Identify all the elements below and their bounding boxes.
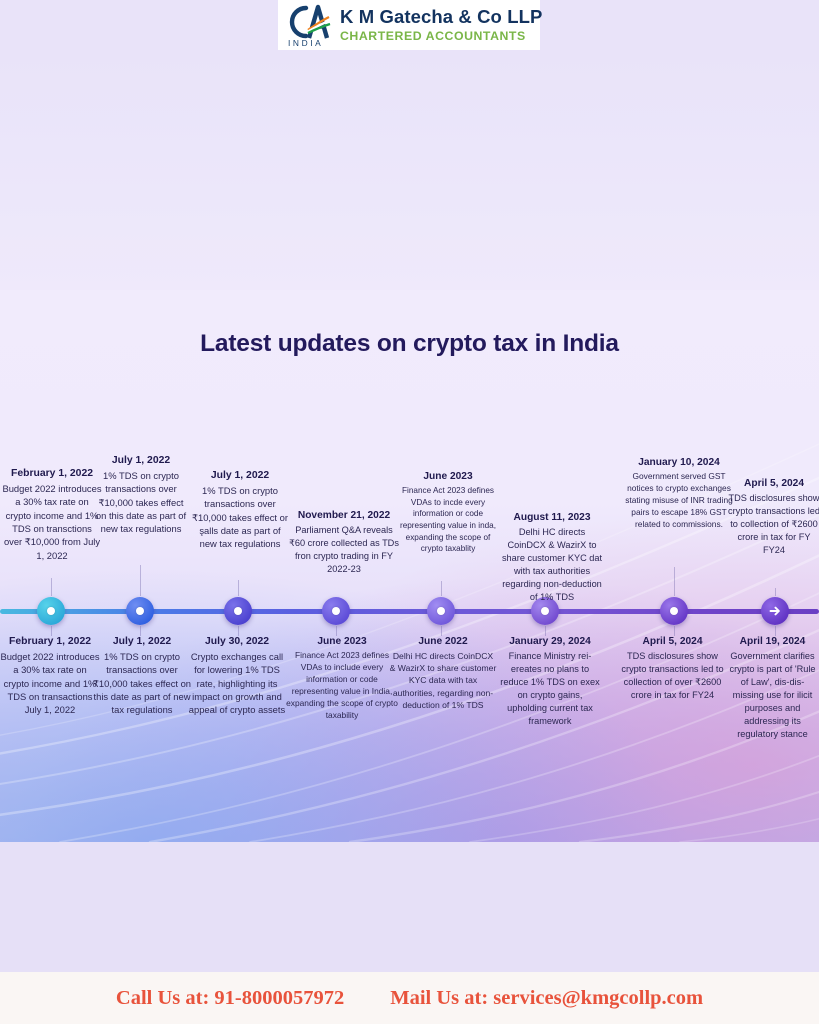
timeline-stem	[441, 581, 442, 596]
card-description: Budget 2022 introduces a 30% tax rate on…	[0, 650, 100, 717]
svg-text:INDIA: INDIA	[288, 38, 323, 48]
node-center-dot	[332, 607, 340, 615]
card-description: TDS disclosures show crypto transactions…	[620, 650, 725, 702]
card-description: Government served GST notices to crypto …	[624, 471, 734, 531]
card-description: Parliament Q&A reveals ₹60 crore collect…	[288, 524, 400, 576]
brand-text: K M Gatecha & Co LLP CHARTERED ACCOUNTAN…	[340, 8, 542, 42]
timeline-dot-icon[interactable]	[427, 597, 455, 625]
node-center-dot	[136, 607, 144, 615]
card-date: June 2022	[389, 636, 497, 647]
brand-tagline: CHARTERED ACCOUNTANTS	[340, 30, 542, 42]
card-description: 1% TDS on crypto transactions over ₹10,0…	[92, 650, 192, 717]
card-description: Finance Act 2023 defines VDAs to incde e…	[396, 485, 500, 555]
node-center-dot	[437, 607, 445, 615]
page-title: Latest updates on crypto tax in India	[0, 330, 819, 358]
poster-bottom-band	[0, 842, 819, 972]
timeline-stem	[674, 626, 675, 636]
card-description: Finance Ministry rei-ereates no plans to…	[498, 650, 602, 728]
timeline-dot-icon[interactable]	[322, 597, 350, 625]
card-description: Government clarifies crypto is part of '…	[726, 650, 819, 741]
timeline-card-below-4: June 2022Delhi HC directs CoinDCX & Wazi…	[389, 636, 497, 711]
card-description: Crypto exchanges call for lowering 1% TD…	[188, 650, 286, 717]
contact-footer: Call Us at: 91-8000057972 Mail Us at: se…	[0, 972, 819, 1024]
card-date: April 5, 2024	[620, 636, 725, 647]
timeline-dot-icon[interactable]	[224, 597, 252, 625]
card-date: January 29, 2024	[498, 636, 602, 647]
timeline-stem	[674, 567, 675, 596]
card-date: June 2023	[396, 471, 500, 482]
card-date: February 1, 2022	[0, 636, 100, 647]
timeline-stem	[140, 626, 141, 636]
node-center-dot	[670, 607, 678, 615]
timeline-card-below-6: April 5, 2024TDS disclosures show crypto…	[620, 636, 725, 702]
timeline-stem	[51, 626, 52, 636]
timeline-stem	[545, 626, 546, 636]
timeline-dot-icon[interactable]	[660, 597, 688, 625]
card-date: August 11, 2023	[500, 512, 604, 523]
timeline-stem	[775, 588, 776, 596]
poster-page: INDIA K M Gatecha & Co LLP CHARTERED ACC…	[0, 0, 819, 1024]
card-date: April 5, 2024	[728, 478, 819, 489]
card-date: January 10, 2024	[624, 457, 734, 468]
card-description: Delhi HC directs CoinDCX & WazirX to sha…	[500, 526, 604, 604]
node-center-dot	[47, 607, 55, 615]
timeline-stem	[238, 580, 239, 596]
ca-india-logo-icon: INDIA	[284, 2, 336, 48]
email-label[interactable]: Mail Us at: services@kmgcollp.com	[390, 987, 703, 1010]
card-description: 1% TDS on crypto transactions over ₹10,0…	[92, 469, 190, 536]
timeline-card-above-6: January 10, 2024Government served GST no…	[624, 457, 734, 531]
brand-name: K M Gatecha & Co LLP	[340, 8, 542, 27]
timeline-arrow-icon[interactable]	[761, 597, 789, 625]
card-date: July 30, 2022	[188, 636, 286, 647]
timeline-card-below-0: February 1, 2022Budget 2022 introduces a…	[0, 636, 100, 717]
node-center-dot	[234, 607, 242, 615]
node-center-dot	[541, 607, 549, 615]
timeline-axis	[0, 609, 819, 614]
timeline-card-below-5: January 29, 2024Finance Ministry rei-ere…	[498, 636, 602, 728]
timeline-card-above-1: July 1, 20221% TDS on crypto transaction…	[92, 455, 190, 536]
phone-label[interactable]: Call Us at: 91-8000057972	[116, 987, 344, 1010]
card-description: Finance Act 2023 defines VDAs to include…	[286, 650, 398, 722]
card-date: February 1, 2022	[2, 468, 102, 479]
card-date: April 19, 2024	[726, 636, 819, 647]
card-description: TDS disclosures show crypto transactions…	[728, 492, 819, 557]
timeline-stem	[140, 565, 141, 596]
timeline-dot-icon[interactable]	[126, 597, 154, 625]
timeline-card-above-3: November 21, 2022Parliament Q&A reveals …	[288, 510, 400, 576]
card-date: November 21, 2022	[288, 510, 400, 521]
timeline-card-above-5: August 11, 2023Delhi HC directs CoinDCX …	[500, 512, 604, 604]
timeline-card-below-3: June 2023Finance Act 2023 defines VDAs t…	[286, 636, 398, 722]
timeline-card-above-0: February 1, 2022Budget 2022 introduces a…	[2, 468, 102, 562]
timeline-stem	[775, 626, 776, 636]
header-band: INDIA K M Gatecha & Co LLP CHARTERED ACC…	[0, 0, 819, 52]
timeline-stem	[238, 626, 239, 636]
timeline-dot-icon[interactable]	[37, 597, 65, 625]
card-description: Delhi HC directs CoinDCX & WazirX to sha…	[389, 650, 497, 711]
timeline-card-below-1: July 1, 20221% TDS on crypto transaction…	[92, 636, 192, 717]
timeline-card-below-7: April 19, 2024Government clarifies crypt…	[726, 636, 819, 741]
timeline-card-above-2: July 1, 20221% TDS on crypto transaction…	[190, 470, 290, 551]
card-date: June 2023	[286, 636, 398, 647]
timeline-card-above-7: April 5, 2024TDS disclosures show crypto…	[728, 478, 819, 557]
poster-top-gradient	[0, 52, 819, 290]
card-date: July 1, 2022	[92, 636, 192, 647]
timeline-stem	[441, 626, 442, 636]
card-date: July 1, 2022	[92, 455, 190, 466]
card-description: 1% TDS on crypto transactions over ₹10,0…	[190, 484, 290, 551]
timeline-card-above-4: June 2023Finance Act 2023 defines VDAs t…	[396, 471, 500, 555]
timeline-stem	[51, 578, 52, 596]
timeline-card-below-2: July 30, 2022Crypto exchanges call for l…	[188, 636, 286, 717]
card-date: July 1, 2022	[190, 470, 290, 481]
card-description: Budget 2022 introduces a 30% tax rate on…	[2, 482, 102, 562]
timeline-stem	[336, 626, 337, 636]
brand-logo[interactable]: INDIA K M Gatecha & Co LLP CHARTERED ACC…	[278, 0, 540, 50]
poster-mid-gradient	[0, 290, 819, 842]
